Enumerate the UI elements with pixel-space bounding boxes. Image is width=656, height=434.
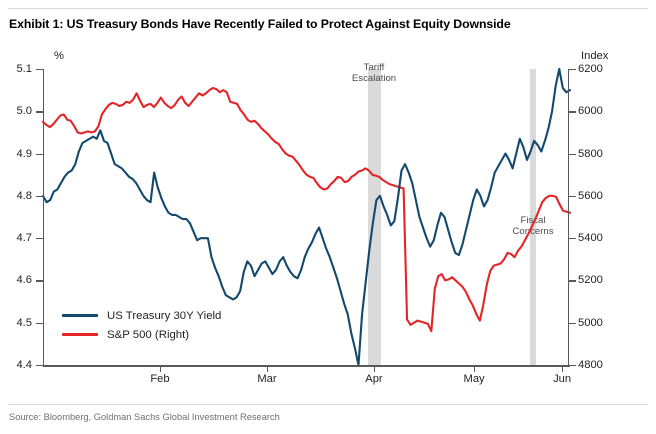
legend-swatch-us-treasury-30y [62, 314, 98, 318]
y-tick-left-5 [36, 280, 43, 281]
y-tick-label-left-3: 4.8 [0, 190, 32, 202]
y-tick-right-2 [569, 154, 576, 155]
y-tick-left-3 [36, 196, 43, 197]
y-tick-label-left-4: 4.7 [0, 232, 32, 244]
x-tick-feb [160, 365, 161, 372]
y-tick-label-right-7: 4800 [578, 359, 624, 371]
y-tick-label-left-7: 4.4 [0, 359, 32, 371]
x-tick-jun [562, 365, 563, 372]
y-tick-label-right-4: 5400 [578, 232, 624, 244]
y-tick-left-6 [36, 323, 43, 324]
x-tick-label-mar: Mar [257, 373, 276, 385]
chart-plot-area [0, 0, 656, 434]
y-tick-right-7 [569, 365, 576, 366]
y-tick-right-4 [569, 238, 576, 239]
x-tick-label-apr: Apr [365, 373, 382, 385]
y-tick-right-3 [569, 196, 576, 197]
y-tick-label-right-0: 6200 [578, 63, 624, 75]
x-axis [43, 365, 570, 367]
legend-swatch-sp500 [62, 333, 98, 337]
y-tick-label-left-5: 4.6 [0, 274, 32, 286]
y-tick-label-left-1: 5.0 [0, 105, 32, 117]
x-tick-label-jun: Jun [553, 373, 571, 385]
source-note: Source: Bloomberg, Goldman Sachs Global … [9, 412, 280, 422]
y-tick-label-left-0: 5.1 [0, 63, 32, 75]
y-tick-label-right-3: 5600 [578, 190, 624, 202]
y-tick-label-left-2: 4.9 [0, 148, 32, 160]
x-tick-mar [267, 365, 268, 372]
x-tick-label-feb: Feb [150, 373, 169, 385]
y-tick-label-right-1: 6000 [578, 105, 624, 117]
y-tick-right-0 [569, 69, 576, 70]
y-tick-right-5 [569, 280, 576, 281]
x-tick-apr [374, 365, 375, 372]
y-tick-label-left-6: 4.5 [0, 317, 32, 329]
y-tick-label-right-2: 5800 [578, 148, 624, 160]
legend-label-us-treasury-30y: US Treasury 30Y Yield [107, 310, 221, 322]
legend-label-sp500: S&P 500 (Right) [107, 329, 189, 341]
y-axis-left [43, 69, 44, 366]
legend-item-sp500: S&P 500 (Right) [62, 325, 221, 344]
y-axis-right [568, 69, 569, 366]
x-tick-label-may: May [464, 373, 485, 385]
y-tick-right-6 [569, 323, 576, 324]
y-tick-left-4 [36, 238, 43, 239]
legend-item-us-treasury-30y: US Treasury 30Y Yield [62, 306, 221, 325]
y-tick-left-0 [36, 69, 43, 70]
x-tick-may [474, 365, 475, 372]
y-tick-label-right-6: 5000 [578, 317, 624, 329]
y-tick-right-1 [569, 111, 576, 112]
y-tick-left-7 [36, 365, 43, 366]
y-tick-left-1 [36, 111, 43, 112]
series-line-sp500 [43, 88, 570, 331]
y-tick-left-2 [36, 154, 43, 155]
chart-legend: US Treasury 30Y Yield S&P 500 (Right) [62, 306, 221, 344]
y-tick-label-right-5: 5200 [578, 274, 624, 286]
